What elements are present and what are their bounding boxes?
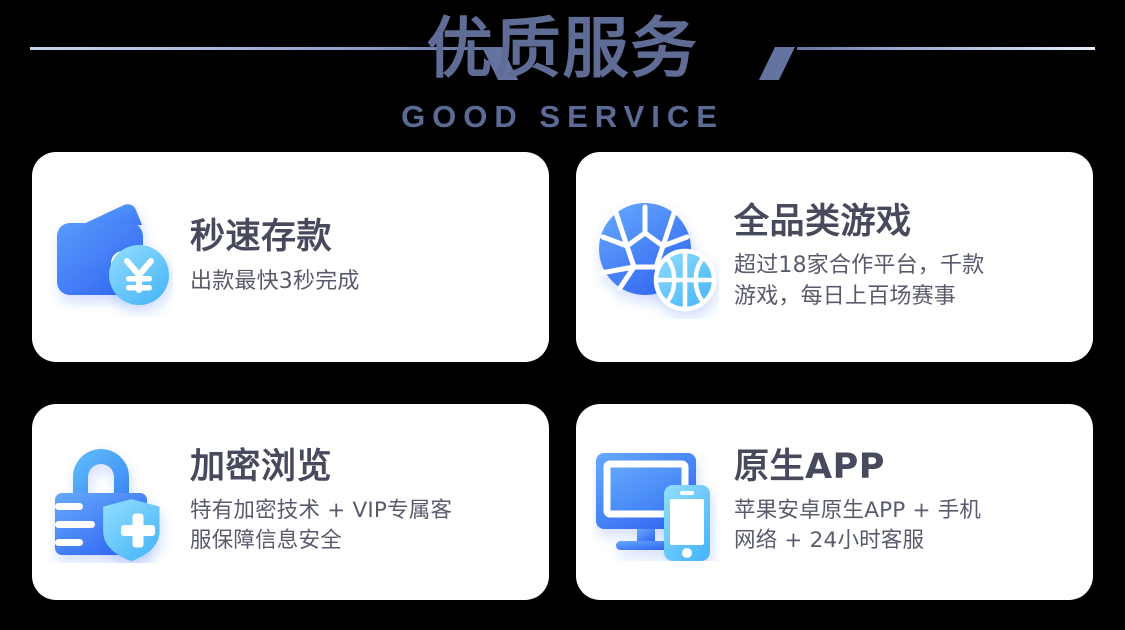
banner-header: 优质服务 GOOD SERVICE — [0, 0, 1125, 145]
card-subtitle-line: 出款最快3秒完成 — [190, 266, 360, 297]
feature-card-encryption[interactable]: 加密浏览 特有加密技术 + VIP专属客 服保障信息安全 — [32, 404, 549, 600]
card-subtitle: 特有加密技术 + VIP专属客 服保障信息安全 — [190, 496, 452, 557]
page-title: 优质服务 — [0, 8, 1125, 91]
monitor-and-smartphone-icon — [576, 432, 734, 572]
padlock-with-shield-icon — [32, 432, 190, 572]
feature-card-games[interactable]: 全品类游戏 超过18家合作平台，千款 游戏，每日上百场赛事 — [576, 152, 1093, 362]
card-subtitle-line: 超过18家合作平台，千款 — [734, 250, 984, 281]
card-subtitle-line: 游戏，每日上百场赛事 — [734, 281, 984, 312]
card-subtitle: 苹果安卓原生APP + 手机 网络 + 24小时客服 — [734, 496, 981, 557]
card-subtitle: 出款最快3秒完成 — [190, 266, 360, 297]
soccer-ball-and-basketball-icon — [576, 187, 734, 327]
feature-card-grid: 秒速存款 出款最快3秒完成 — [32, 152, 1093, 600]
card-text: 加密浏览 特有加密技术 + VIP专属客 服保障信息安全 — [190, 447, 466, 556]
card-title: 加密浏览 — [190, 447, 452, 488]
card-title: 原生APP — [734, 447, 981, 488]
feature-card-deposit[interactable]: 秒速存款 出款最快3秒完成 — [32, 152, 549, 362]
card-subtitle-line: 特有加密技术 + VIP专属客 — [190, 496, 452, 527]
card-subtitle-line: 服保障信息安全 — [190, 526, 452, 557]
card-subtitle: 超过18家合作平台，千款 游戏，每日上百场赛事 — [734, 250, 984, 312]
card-subtitle-line: 苹果安卓原生APP + 手机 — [734, 496, 981, 527]
card-text: 秒速存款 出款最快3秒完成 — [190, 217, 374, 297]
promo-banner: 优质服务 GOOD SERVICE — [0, 0, 1125, 630]
card-text: 原生APP 苹果安卓原生APP + 手机 网络 + 24小时客服 — [734, 447, 995, 556]
page-subtitle: GOOD SERVICE — [0, 99, 1125, 135]
wallet-with-yen-coin-icon — [32, 187, 190, 327]
card-title: 全品类游戏 — [734, 202, 984, 243]
feature-card-native-app[interactable]: 原生APP 苹果安卓原生APP + 手机 网络 + 24小时客服 — [576, 404, 1093, 600]
card-subtitle-line: 网络 + 24小时客服 — [734, 526, 981, 557]
card-title: 秒速存款 — [190, 217, 360, 258]
card-text: 全品类游戏 超过18家合作平台，千款 游戏，每日上百场赛事 — [734, 202, 998, 313]
